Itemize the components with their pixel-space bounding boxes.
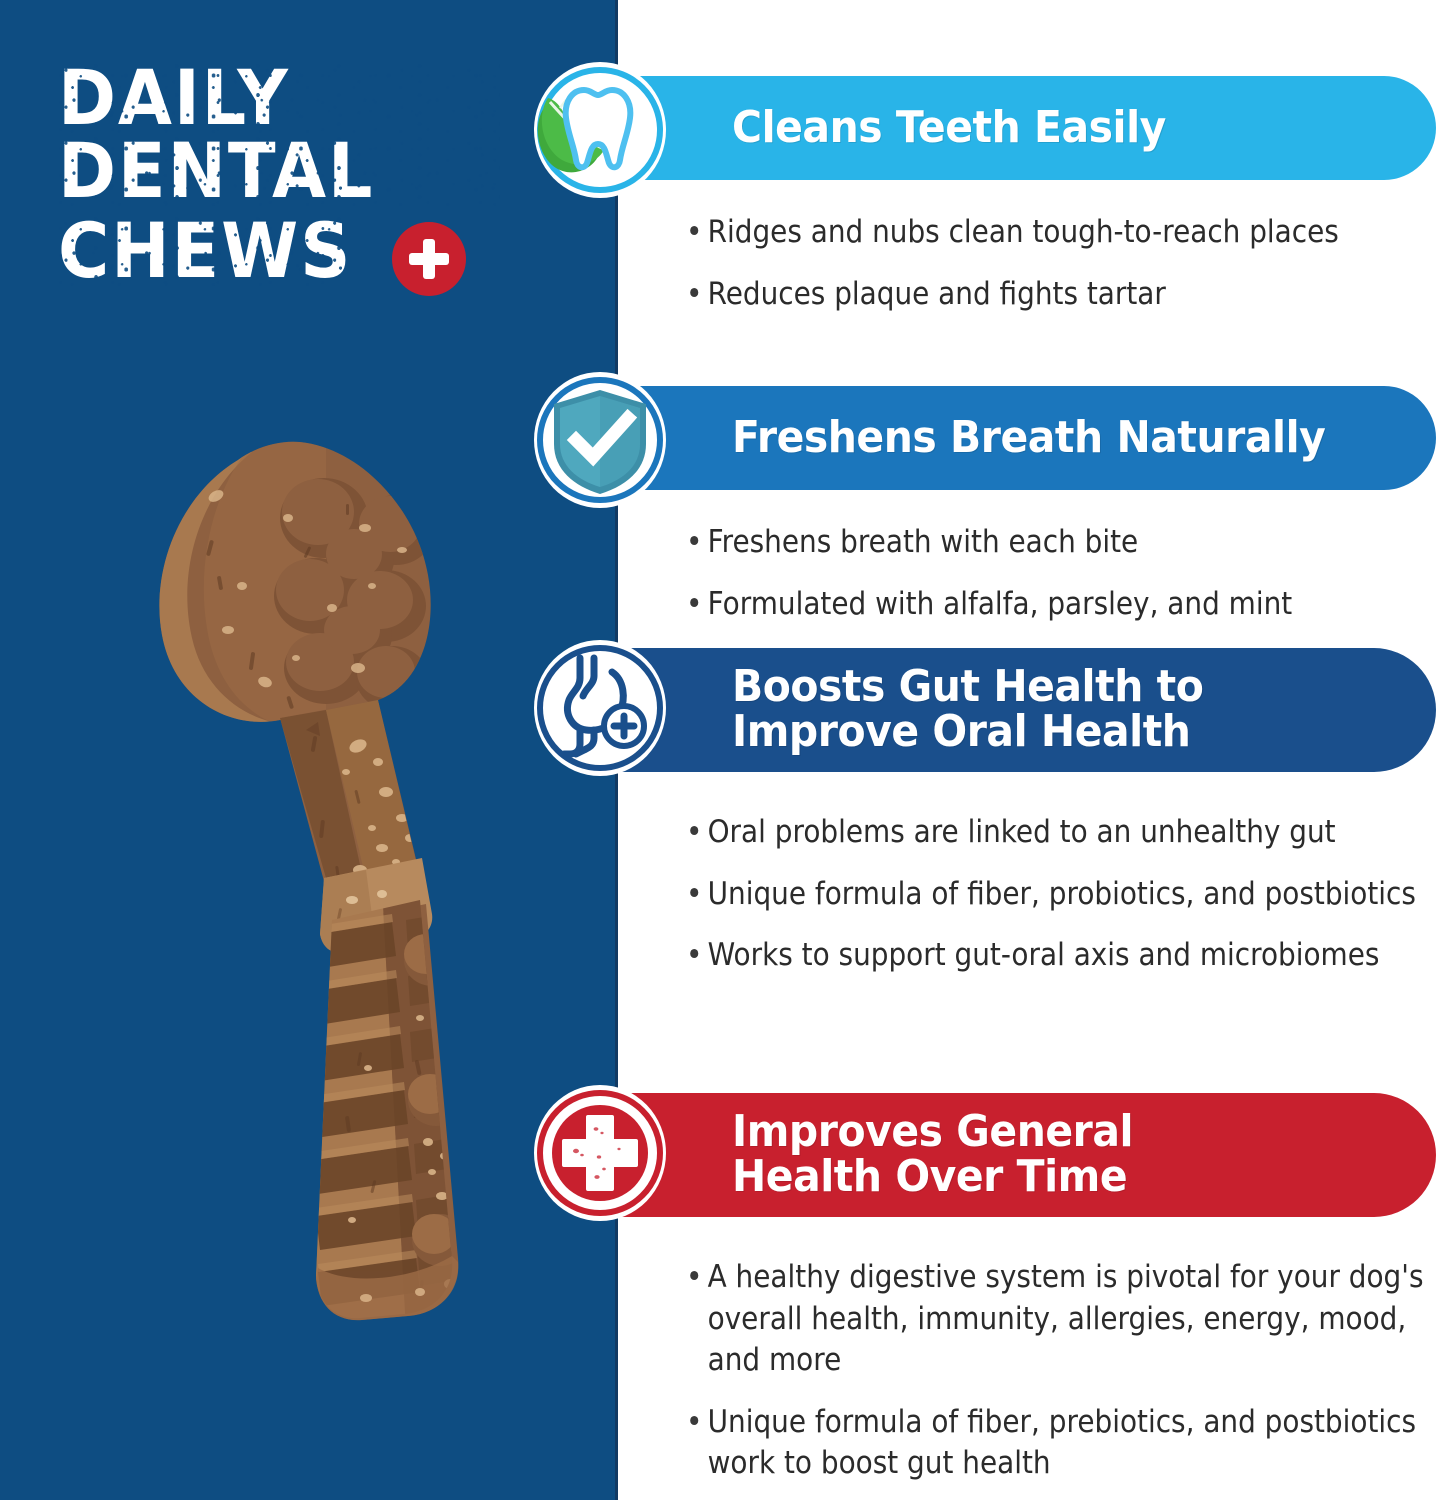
bullet-text: Freshens breath with each bite <box>708 522 1442 564</box>
feature-bullets-1: • Ridges and nubs clean tough-to-reach p… <box>686 212 1442 335</box>
title-line-daily: DAILY <box>58 62 500 135</box>
bullet-text: Formulated with alfalfa, parsley, and mi… <box>708 584 1442 626</box>
list-item: • Oral problems are linked to an unhealt… <box>686 812 1441 854</box>
feature-bullets-3: • Oral problems are linked to an unhealt… <box>686 812 1442 997</box>
bullet-marker: • <box>686 1402 708 1485</box>
bullet-marker: • <box>686 935 708 977</box>
list-item: • Reduces plaque and fights tartar <box>686 274 1441 316</box>
left-brand-panel: DAILY DENTAL CHEWS <box>0 0 618 1500</box>
chew-head <box>152 436 434 733</box>
list-item: • Freshens breath with each bite <box>686 522 1441 564</box>
bullet-text: Works to support gut-oral axis and micro… <box>708 935 1442 977</box>
feature-title-3: Boosts Gut Health to Improve Oral Health <box>732 665 1203 755</box>
medical-cross-icon <box>392 222 466 296</box>
list-item: • Ridges and nubs clean tough-to-reach p… <box>686 212 1441 254</box>
feature-title-4: Improves General Health Over Time <box>732 1110 1133 1200</box>
bullet-marker: • <box>686 812 708 854</box>
feature-bullets-4: • A healthy digestive system is pivotal … <box>686 1257 1442 1505</box>
feature-pill-1: Cleans Teeth Easily <box>552 76 1436 180</box>
list-item: • A healthy digestive system is pivotal … <box>686 1257 1441 1382</box>
feature-bullets-2: • Freshens breath with each bite • Formu… <box>686 522 1442 645</box>
bullet-marker: • <box>686 212 708 254</box>
bullet-marker: • <box>686 1257 708 1382</box>
list-item: • Unique formula of fiber, probiotics, a… <box>686 874 1441 916</box>
features-panel: Cleans Teeth Easily • Ridges and nubs cl… <box>618 0 1444 1500</box>
bullet-marker: • <box>686 522 708 564</box>
bullet-text: Unique formula of fiber, prebiotics, and… <box>708 1402 1442 1485</box>
tooth-with-mint-leaf-icon <box>534 62 666 198</box>
list-item: • Works to support gut-oral axis and mic… <box>686 935 1441 977</box>
title-line-chews: CHEWS <box>58 215 352 288</box>
feature-title-1: Cleans Teeth Easily <box>732 106 1166 151</box>
bullet-text: Ridges and nubs clean tough-to-reach pla… <box>708 212 1442 254</box>
bullet-text: Oral problems are linked to an unhealthy… <box>708 812 1442 854</box>
chew-ridged-body <box>306 880 482 1330</box>
feature-pill-4: Improves General Health Over Time <box>552 1093 1436 1217</box>
bullet-marker: • <box>686 584 708 626</box>
page-title: DAILY DENTAL CHEWS <box>58 62 538 296</box>
feature-title-2: Freshens Breath Naturally <box>732 416 1325 461</box>
list-item: • Formulated with alfalfa, parsley, and … <box>686 584 1441 626</box>
feature-pill-2: Freshens Breath Naturally <box>552 386 1436 490</box>
feature-pill-3: Boosts Gut Health to Improve Oral Health <box>552 648 1436 772</box>
bullet-text: Unique formula of fiber, probiotics, and… <box>708 874 1442 916</box>
bullet-marker: • <box>686 874 708 916</box>
title-line-dental: DENTAL <box>58 135 500 208</box>
stomach-plus-icon <box>534 640 666 776</box>
medical-cross-circle-icon <box>534 1085 666 1221</box>
list-item: • Unique formula of fiber, prebiotics, a… <box>686 1402 1441 1485</box>
bullet-text: Reduces plaque and fights tartar <box>708 274 1442 316</box>
bullet-text: A healthy digestive system is pivotal fo… <box>708 1257 1442 1382</box>
bullet-marker: • <box>686 274 708 316</box>
shield-checkmark-icon <box>534 372 666 508</box>
dog-dental-chew-illustration <box>120 400 520 1400</box>
